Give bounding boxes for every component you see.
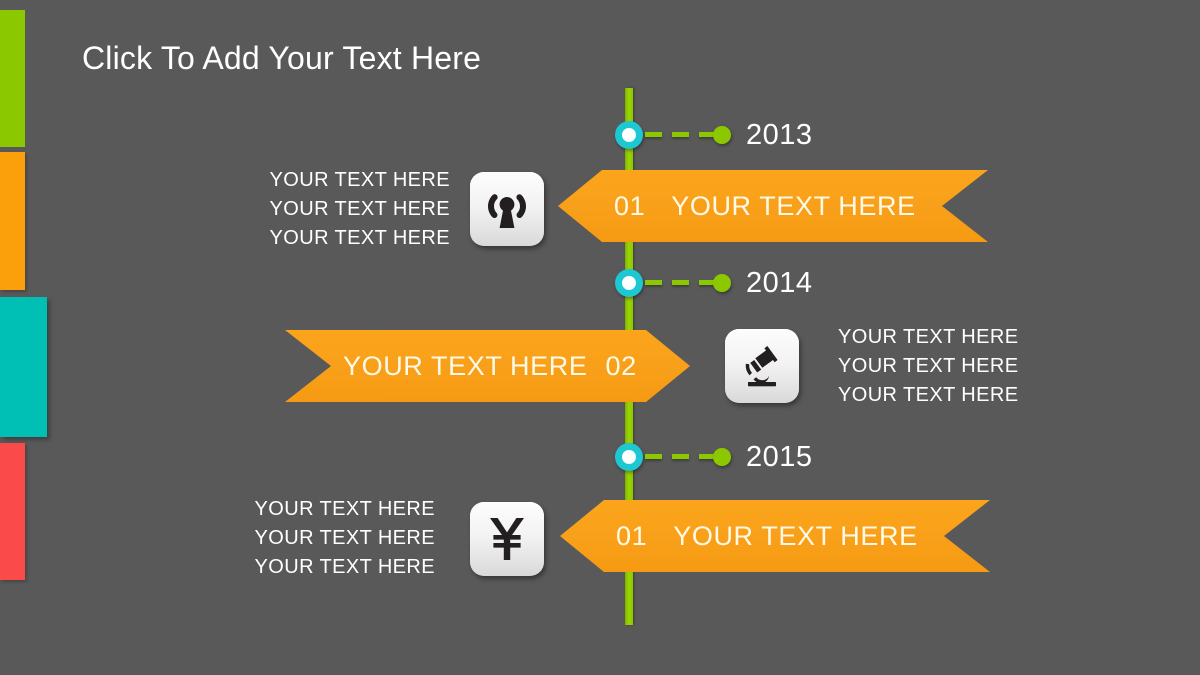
year-label-2014: 2014 (746, 267, 813, 300)
broadcast-antenna-icon[interactable] (470, 172, 544, 246)
milestone-banner-text: YOUR TEXT HERE (673, 521, 917, 552)
year-label-2013: 2013 (746, 119, 813, 152)
connector-end-dot-2015 (713, 448, 731, 466)
description-block-2014: YOUR TEXT HERE YOUR TEXT HERE YOUR TEXT … (838, 323, 1048, 410)
page-title[interactable]: Click To Add Your Text Here (82, 40, 481, 77)
description-line: YOUR TEXT HERE (838, 352, 1048, 381)
timeline-node-2014[interactable] (615, 269, 643, 297)
description-line: YOUR TEXT HERE (235, 553, 435, 582)
milestone-banner-2013[interactable]: 01 YOUR TEXT HERE (558, 170, 988, 242)
milestone-banner-text: YOUR TEXT HERE (671, 191, 915, 222)
accent-bar-orange (0, 152, 25, 290)
description-block-2015: YOUR TEXT HERE YOUR TEXT HERE YOUR TEXT … (235, 495, 435, 582)
timeline-node-2013[interactable] (615, 121, 643, 149)
milestone-number: 02 (605, 351, 636, 382)
milestone-number: 01 (614, 191, 645, 222)
connector-dashes-2015 (645, 454, 723, 459)
milestone-banner-text: YOUR TEXT HERE (343, 351, 587, 382)
yen-currency-icon[interactable] (470, 502, 544, 576)
connector-end-dot-2014 (713, 274, 731, 292)
description-line: YOUR TEXT HERE (235, 524, 435, 553)
year-label-2015: 2015 (746, 441, 813, 474)
accent-bar-green (0, 10, 25, 147)
description-line: YOUR TEXT HERE (250, 224, 450, 253)
milestone-banner-2014[interactable]: YOUR TEXT HERE 02 (285, 330, 690, 402)
microscope-icon[interactable] (725, 329, 799, 403)
accent-bar-red (0, 443, 25, 580)
connector-end-dot-2013 (713, 126, 731, 144)
description-line: YOUR TEXT HERE (838, 381, 1048, 410)
description-line: YOUR TEXT HERE (250, 166, 450, 195)
connector-dashes-2013 (645, 132, 723, 137)
description-line: YOUR TEXT HERE (838, 323, 1048, 352)
timeline-node-2015[interactable] (615, 443, 643, 471)
milestone-number: 01 (616, 521, 647, 552)
slide-canvas: Click To Add Your Text Here 2013 YOUR TE… (0, 0, 1200, 675)
milestone-banner-2015[interactable]: 01 YOUR TEXT HERE (560, 500, 990, 572)
description-line: YOUR TEXT HERE (235, 495, 435, 524)
description-line: YOUR TEXT HERE (250, 195, 450, 224)
connector-dashes-2014 (645, 280, 723, 285)
description-block-2013: YOUR TEXT HERE YOUR TEXT HERE YOUR TEXT … (250, 166, 450, 253)
accent-bar-teal (0, 297, 47, 437)
